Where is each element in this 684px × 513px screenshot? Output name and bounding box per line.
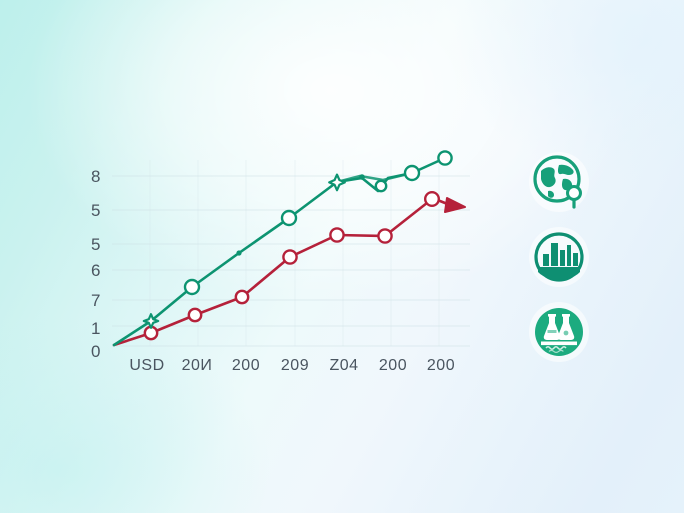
y-tick-label: 5	[91, 235, 101, 254]
series-green	[114, 151, 452, 345]
y-tick-label: 6	[91, 261, 101, 280]
flasks-lab-icon[interactable]	[529, 302, 589, 362]
x-tick-label: 20И	[182, 357, 213, 374]
y-tick-label: 1	[91, 319, 101, 338]
x-tick-label: Z04	[329, 357, 358, 374]
y-axis-tick-labels: 8 5 5 6 7 1 0	[91, 167, 101, 361]
icon-rail	[529, 152, 589, 362]
y-tick-label: 7	[91, 291, 101, 310]
x-tick-label: 200	[379, 357, 407, 374]
y-tick-label: 5	[91, 201, 101, 220]
bar-chart-city-icon-glyph	[530, 228, 588, 286]
x-tick-label: USD	[129, 357, 164, 374]
x-tick-label: 200	[427, 357, 455, 374]
green-vertex-dot	[359, 174, 365, 180]
y-tick-label: 0	[91, 342, 101, 361]
series-green-markers	[144, 151, 452, 327]
y-tick-label: 8	[91, 167, 101, 186]
screenshot-canvas: 8 5 5 6 7 1 0 USD 20И 200 209 Z04 200 20…	[0, 0, 684, 513]
green-star-marker	[329, 175, 345, 191]
flasks-lab-icon-glyph	[530, 303, 588, 361]
x-axis-tick-labels: USD 20И 200 209 Z04 200 200	[129, 357, 455, 374]
x-tick-label: 209	[281, 357, 309, 374]
green-vertex-dot	[236, 250, 241, 255]
globe-search-icon-glyph	[530, 153, 588, 211]
bar-chart-city-icon[interactable]	[529, 227, 589, 287]
globe-search-icon[interactable]	[529, 152, 589, 212]
x-tick-label: 200	[232, 357, 260, 374]
